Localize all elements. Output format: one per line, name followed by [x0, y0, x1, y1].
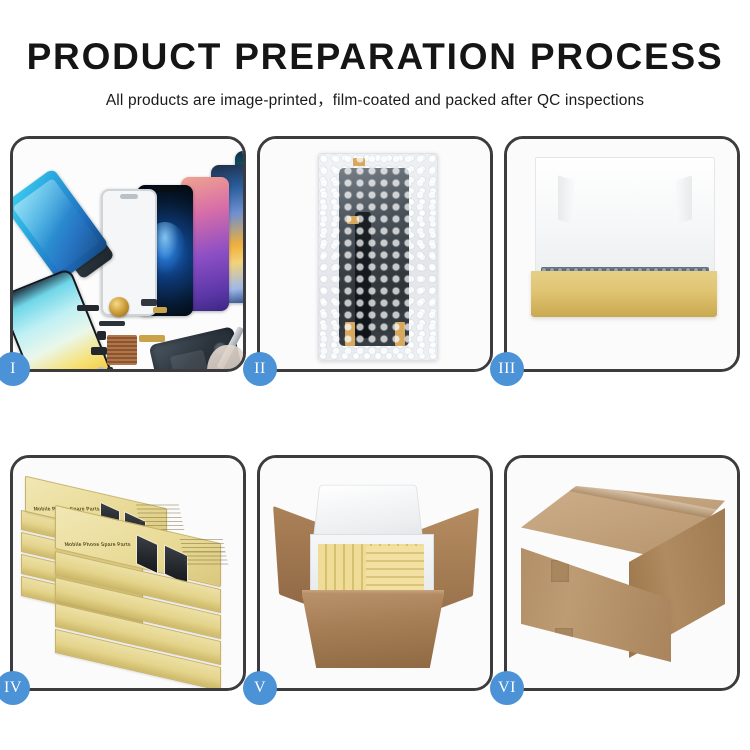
- carton-body: [302, 594, 444, 668]
- retail-box-stack: Mobile Phone Spare Parts Mobile Phone Sp…: [19, 480, 243, 676]
- lid-flap-right: [676, 175, 692, 224]
- part-chip: [91, 347, 107, 355]
- carton-seam: [534, 474, 718, 519]
- step-badge-1: I: [0, 352, 30, 386]
- sealed-carton: [521, 486, 725, 662]
- process-step-card-6: VI: [504, 455, 740, 691]
- step-1-image: [13, 139, 243, 369]
- step-badge-4: IV: [0, 671, 30, 705]
- bubble-wrap-bag: [318, 153, 438, 361]
- step-badge-5: V: [243, 671, 277, 705]
- bubble-texture: [319, 154, 437, 360]
- process-step-card-1: I: [10, 136, 246, 372]
- lid-flap-left: [558, 175, 574, 224]
- part-connector: [153, 307, 167, 313]
- process-step-card-2: II: [257, 136, 493, 372]
- step-5-image: [260, 458, 490, 688]
- part-flex-cable: [107, 367, 113, 369]
- box-print-text-block: [180, 538, 229, 565]
- page-title: PRODUCT PREPARATION PROCESS: [0, 38, 750, 77]
- step-6-image: [507, 458, 737, 688]
- box-window-left: [136, 534, 158, 574]
- part-chip: [77, 305, 99, 311]
- step-badge-3: III: [490, 352, 524, 386]
- part-chip: [141, 299, 157, 306]
- process-step-grid: I II III: [10, 136, 740, 691]
- page-header: PRODUCT PREPARATION PROCESS All products…: [0, 0, 750, 110]
- process-step-card-3: III: [504, 136, 740, 372]
- step-4-image: Mobile Phone Spare Parts Mobile Phone Sp…: [13, 458, 243, 688]
- part-chip: [97, 331, 106, 340]
- process-step-card-5: V: [257, 455, 493, 691]
- step-badge-2: II: [243, 352, 277, 386]
- tape-piece-lower: [555, 628, 573, 648]
- step-2-image: [260, 139, 490, 369]
- step-badge-6: VI: [490, 671, 524, 705]
- box-print-label: Mobile Phone Spare Parts: [64, 542, 131, 548]
- part-camera: [97, 367, 105, 369]
- process-step-card-4: Mobile Phone Spare Parts Mobile Phone Sp…: [10, 455, 246, 691]
- step-3-image: [507, 139, 737, 369]
- tape-piece-upper: [551, 560, 569, 582]
- yellow-packs-right: [366, 546, 424, 592]
- box-yellow-body: [531, 271, 717, 317]
- part-flex-cable: [139, 335, 165, 342]
- box-white-lid: [535, 157, 715, 279]
- page-subtitle: All products are image-printed，film-coat…: [0, 88, 750, 110]
- gold-coil-part: [109, 297, 129, 317]
- part-flex-cable: [99, 321, 125, 326]
- copper-mesh-part: [107, 335, 137, 365]
